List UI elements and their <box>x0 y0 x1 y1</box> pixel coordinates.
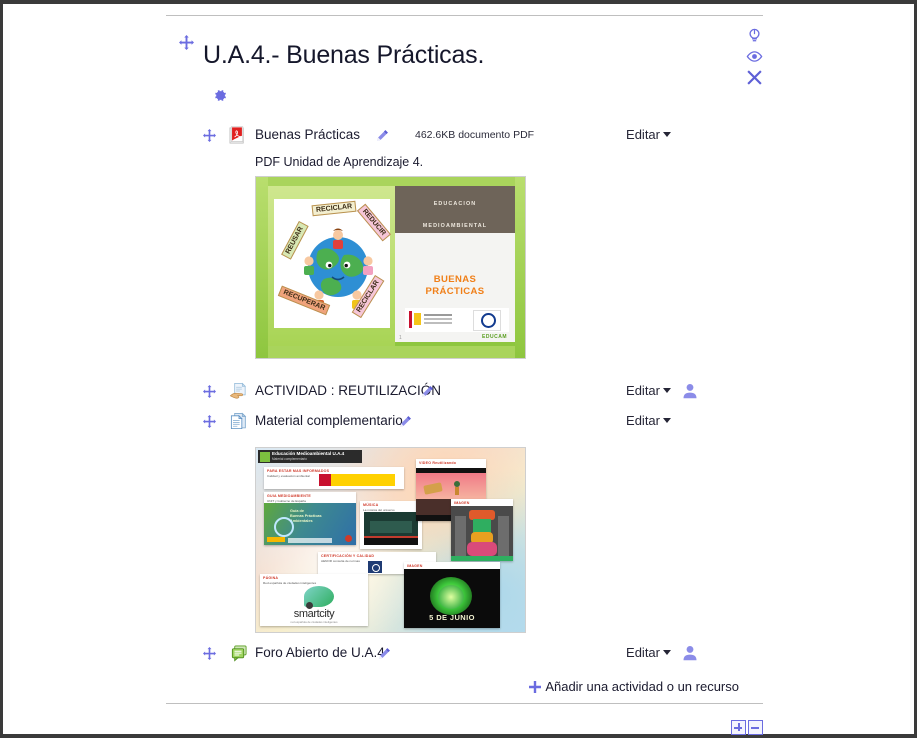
move-cross-icon <box>203 647 216 660</box>
card-title: IMAGEN <box>404 562 500 568</box>
pdf-cover-brand: EDUCAM <box>482 334 507 340</box>
board-card-imagen-junio: IMAGEN 5 DE JUNIO <box>404 562 500 628</box>
plus-icon <box>529 681 541 696</box>
edit-menu-button[interactable]: Editar <box>626 127 671 142</box>
section-settings-gear[interactable] <box>213 88 228 108</box>
eu-logo <box>473 310 501 331</box>
musica-video-frame <box>364 512 418 545</box>
chevron-down-icon <box>663 650 671 655</box>
pdf-cover-right-band <box>515 177 525 358</box>
pdf-cover-illustration-box: RECICLAR REDUCIR REUSAR RECICLAR RECUPER… <box>274 199 390 328</box>
video-scene <box>416 473 486 499</box>
delete-x-icon[interactable] <box>742 69 766 86</box>
move-cross-icon <box>203 385 216 398</box>
expand-all-button[interactable] <box>731 720 746 735</box>
board-header-subtitle: Material complementario <box>272 457 307 461</box>
assign-roles-person-icon[interactable] <box>681 382 699 405</box>
page-document-icon <box>229 412 249 432</box>
padlet-board-thumbnail[interactable]: Educación Medioambiental U.A.4 Material … <box>255 447 526 633</box>
pdf-cover-right-pane: EDUCACION MEDIOAMBIENTAL BUENAS PRÁCTICA… <box>395 186 515 346</box>
pdf-cover-left-band <box>256 177 268 358</box>
edit-menu-button[interactable]: Editar <box>626 413 671 428</box>
move-cross-icon <box>203 129 216 142</box>
board-card-informados: PARA ESTAR MAS INFORMADOS Calidad y eval… <box>264 467 404 489</box>
ministry-banner <box>319 474 395 486</box>
activity-row-foro-abierto: Foro Abierto de U.A.4 Editar <box>203 644 763 668</box>
board-card-smartcity: PÁGINA Red española de ciudades intelige… <box>260 574 368 626</box>
course-section: U.A.4.- Buenas Prácticas. <box>163 15 763 725</box>
section-zoom-controls <box>729 719 763 737</box>
junio-art: 5 DE JUNIO <box>404 569 500 628</box>
edit-menu-button[interactable]: Editar <box>626 383 671 398</box>
guia-cover-art: Guía deBuenas PrácticasAmbientales <box>264 503 356 545</box>
pdf-cover-top-band <box>256 177 525 186</box>
pdf-cover-thumbnail[interactable]: RECICLAR REDUCIR REUSAR RECICLAR RECUPER… <box>255 176 526 359</box>
activity-title-link[interactable]: ACTIVIDAD : REUTILIZACIÓN <box>255 383 441 398</box>
section-top-divider <box>166 15 763 16</box>
board-card-musica: MÚSICA La música del universo <box>360 501 422 549</box>
section-bottom-divider <box>166 703 763 704</box>
chevron-down-icon <box>663 388 671 393</box>
spain-ministry-logo <box>409 311 456 328</box>
sign-reciclar: RECICLAR <box>312 201 357 217</box>
smartcity-wordmark: smartcity <box>260 608 368 620</box>
smartcity-tagline: red española de ciudades inteligentes <box>260 620 368 624</box>
pdf-file-icon <box>229 126 249 146</box>
pdf-cover-title-line2: PRÁCTICAS <box>395 286 515 298</box>
pdf-cover-header-line1: EDUCACION <box>395 186 515 208</box>
activity-description: PDF Unidad de Aprendizaje 4. <box>255 155 423 169</box>
pdf-cover-logo-strip <box>405 308 509 332</box>
collapse-all-button[interactable] <box>748 720 763 735</box>
aenor-logo <box>368 561 382 573</box>
chevron-down-icon <box>663 132 671 137</box>
pdf-cover-left-pane: RECICLAR REDUCIR REUSAR RECICLAR RECUPER… <box>268 186 395 346</box>
activity-title-link[interactable]: Foro Abierto de U.A.4 <box>255 645 385 660</box>
junio-label: 5 DE JUNIO <box>404 613 500 622</box>
section-title: U.A.4.- Buenas Prácticas. <box>203 41 484 70</box>
board-header-title: Educación Medioambiental U.A.4 <box>272 451 344 456</box>
add-activity-label: Añadir una actividad o un recurso <box>545 679 739 694</box>
section-action-icons <box>742 27 766 92</box>
section-move-handle[interactable] <box>179 35 194 55</box>
pdf-cover-title: BUENAS PRÁCTICAS <box>395 274 515 297</box>
board-card-imagen-mural: IMAGEN <box>451 499 513 561</box>
activity-move-handle[interactable] <box>203 415 216 433</box>
add-activity-link[interactable]: Añadir una actividad o un recurso <box>529 679 739 696</box>
activity-filesize-meta: 462.6KB documento PDF <box>415 129 534 141</box>
board-logo-icon <box>260 452 270 462</box>
activity-title-link[interactable]: Material complementario <box>255 413 403 428</box>
card-title: IMAGEN <box>451 499 513 505</box>
activity-move-handle[interactable] <box>203 647 216 665</box>
chevron-down-icon <box>663 418 671 423</box>
activity-move-handle[interactable] <box>203 385 216 403</box>
rename-pencil-icon[interactable] <box>399 415 412 433</box>
activity-row-material-complementario: Material complementario Editar <box>203 412 763 436</box>
eye-visibility-icon[interactable] <box>742 50 766 63</box>
move-cross-icon <box>179 35 194 50</box>
edit-menu-button[interactable]: Editar <box>626 645 671 660</box>
rename-pencil-icon[interactable] <box>376 129 389 147</box>
activity-row-actividad-reutilizacion: ACTIVIDAD : REUTILIZACIÓN Editar <box>203 382 763 406</box>
rename-pencil-icon[interactable] <box>421 385 434 403</box>
board-header: Educación Medioambiental U.A.4 Material … <box>258 450 362 463</box>
move-cross-icon <box>203 415 216 428</box>
gear-icon <box>213 88 228 103</box>
moodle-course-page: U.A.4.- Buenas Prácticas. <box>3 4 914 734</box>
assignment-hand-icon <box>229 382 249 402</box>
activity-move-handle[interactable] <box>203 129 216 147</box>
activity-row-buenas-practicas: Buenas Prácticas 462.6KB documento PDF E… <box>203 126 763 150</box>
board-card-guia: GUIA MEDIOAMBIENTE UNIT y Gobierno de Es… <box>264 492 356 545</box>
forum-speech-bubbles-icon <box>229 644 249 664</box>
pdf-cover-title-line1: BUENAS <box>395 274 515 286</box>
assign-roles-person-icon[interactable] <box>681 644 699 667</box>
rename-pencil-icon[interactable] <box>378 647 391 665</box>
pdf-cover-header-band: EDUCACION MEDIOAMBIENTAL <box>395 186 515 233</box>
pdf-cover-page-number: 1 <box>399 335 402 341</box>
mural-art <box>451 506 513 561</box>
activity-title-link[interactable]: Buenas Prácticas <box>255 127 360 142</box>
pdf-cover-header-line2: MEDIOAMBIENTAL <box>395 208 515 230</box>
highlight-lightbulb-icon[interactable] <box>742 27 766 44</box>
pdf-cover-bottom-band <box>256 346 525 358</box>
